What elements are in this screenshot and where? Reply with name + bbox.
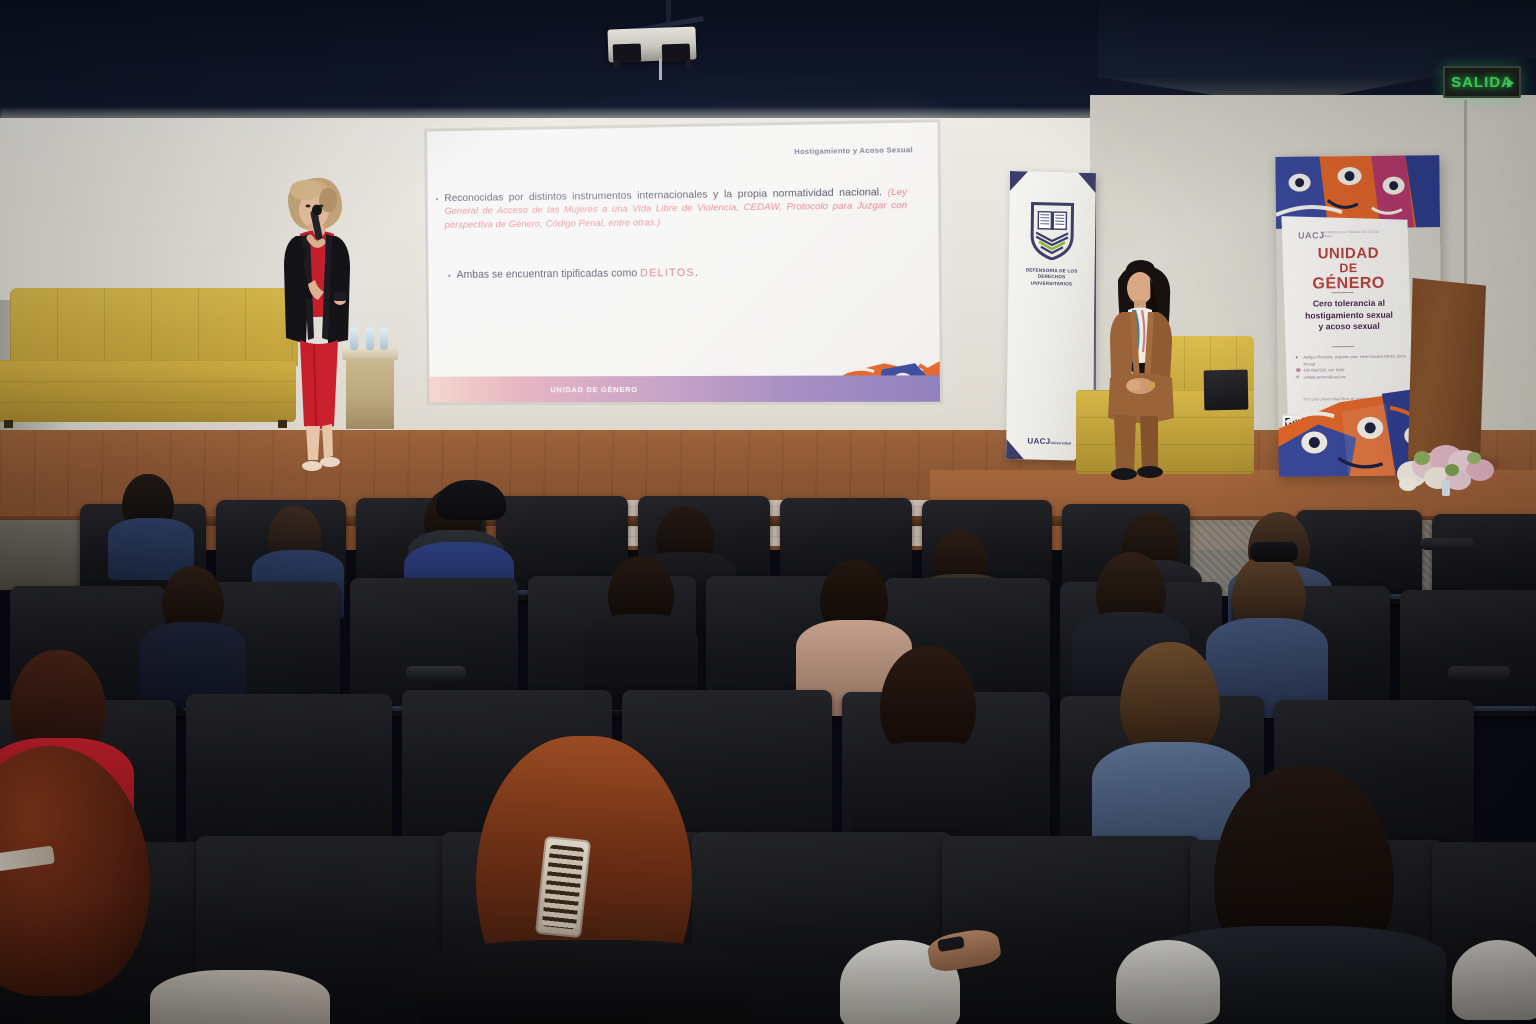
banner-title-line1: UNIDAD: [1288, 245, 1408, 261]
banner-corner: [1006, 439, 1024, 459]
sofa-leg: [4, 420, 13, 428]
banner-corner: [1010, 171, 1028, 191]
seated-panelist-figure: [1092, 258, 1196, 486]
stage-sofa-left: [0, 288, 298, 430]
projector-foot: [614, 60, 620, 68]
banner-corner: [1078, 173, 1096, 193]
laptop: [1204, 370, 1249, 411]
exit-sign-label: SALIDA: [1451, 74, 1513, 91]
uacj-wordmark-sub: Universidad: [1050, 441, 1071, 446]
banner-subtitle-line3: y acoso sexual: [1285, 321, 1413, 334]
sofa-backrest: [10, 288, 298, 366]
projector-cable: [659, 58, 662, 80]
banner-title: UNIDAD DE GÉNERO: [1288, 245, 1408, 291]
seat-armrest: [1448, 666, 1510, 680]
banner-contact-block: ● Antiguo Rectoría, segundo piso. Henri …: [1295, 353, 1407, 381]
uacj-wordmark: UACJ: [1027, 436, 1050, 446]
contact-address: Antiguo Rectoría, segundo piso. Henri Du…: [1303, 353, 1407, 367]
audience-sleeve: [150, 970, 330, 1024]
seat-armrest: [406, 666, 466, 680]
exit-sign: SALIDA: [1443, 66, 1521, 98]
projector-foot: [686, 60, 692, 68]
audience-knee: [1452, 940, 1536, 1020]
mail-icon: ✉: [1296, 374, 1301, 381]
screen-frame: [424, 119, 943, 405]
audience-body: [420, 940, 750, 1024]
sofa-seat: [0, 360, 296, 422]
banner-title-line3: GÉNERO: [1289, 275, 1409, 291]
sunglasses-on-head-icon: [1250, 542, 1298, 562]
uacj-crest-icon: [1030, 201, 1075, 260]
banner-defensoria-logo: UACJUniversidad: [1027, 436, 1071, 446]
arrow-right-icon: [1507, 78, 1514, 88]
contact-email: unidad.genero@uacj.mx: [1304, 374, 1346, 381]
audience-area: [0, 470, 1536, 1024]
presenter-figure: [262, 172, 372, 490]
seat-armrest: [1420, 538, 1474, 550]
audience-cap: [436, 480, 506, 520]
contact-row-address: ● Antiguo Rectoría, segundo piso. Henri …: [1295, 353, 1407, 367]
banner-subtitle: Cero tolerancia al hostigamiento sexual …: [1285, 297, 1413, 333]
banner-defensoria-line2: UNIVERSITARIOS: [1014, 280, 1088, 288]
audience-knee: [1116, 940, 1220, 1024]
water-bottle: [380, 328, 388, 350]
location-pin-icon: ●: [1295, 355, 1300, 362]
uacj-logo-sub: UNIVERSIDAD AUTÓNOMA DE CIUDAD JUÁREZ: [1320, 230, 1392, 239]
auditorium-seat: [1400, 590, 1536, 716]
banner-defensoria-text: DEFENSORÍA DE LOS DERECHOS UNIVERSITARIO…: [1014, 267, 1088, 288]
projection-screen: Hostigamiento y Acoso Sexual • Reconocid…: [427, 122, 940, 402]
auditorium-scene: SALIDA Hostigamiento y Acoso Sexual • Re…: [0, 0, 1536, 1024]
contact-row-email: ✉ unidad.genero@uacj.mx: [1296, 373, 1408, 381]
